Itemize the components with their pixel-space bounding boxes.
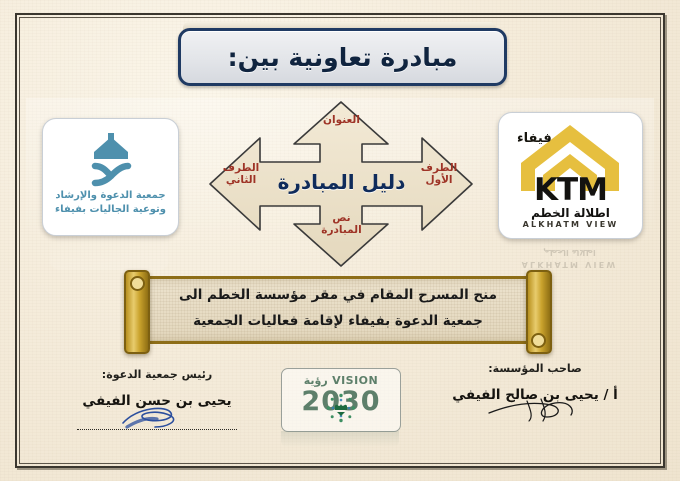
ktm-english-name: ALKHATM VIEW bbox=[499, 220, 642, 229]
statement-scroll: منح المسرح المقام في مقر مؤسسة الخطم الى… bbox=[124, 272, 552, 348]
dawah-society-name: جمعية الدعوة والإرشاد وتوعية الجاليات بف… bbox=[47, 189, 174, 216]
ktm-arabic-name: اطلالة الخطم bbox=[499, 206, 642, 220]
ktm-logo-card: فيفاء KTM اطلالة الخطم ALKHATM VIEW bbox=[498, 112, 643, 239]
title-plate: مبادرة تعاونية بين: bbox=[178, 28, 507, 86]
handwritten-signature-icon bbox=[97, 403, 217, 429]
diagram-label-bottom-line-2: المبادرة bbox=[284, 224, 399, 236]
signature-role-left: رئيس جمعية الدعوة: bbox=[52, 368, 262, 381]
ktm-wordmark: KTM bbox=[499, 175, 642, 206]
statement-text: منح المسرح المقام في مقر مؤسسة الخطم الى… bbox=[154, 282, 522, 335]
statement-line-1: منح المسرح المقام في مقر مؤسسة الخطم الى bbox=[154, 282, 522, 308]
dawah-emblem-icon bbox=[43, 131, 178, 189]
diagram-label-top: العنوان bbox=[284, 114, 399, 126]
diagram-center-label: دليل المبادرة bbox=[254, 170, 429, 194]
diagram-label-bottom-line-1: نص bbox=[284, 212, 399, 224]
handwritten-signature-icon bbox=[475, 397, 595, 423]
scroll-roll-right bbox=[526, 270, 552, 354]
ktm-faifa-label: فيفاء bbox=[517, 131, 552, 146]
scroll-curl-top-icon bbox=[130, 276, 145, 291]
signature-role-right: صاحب المؤسسة: bbox=[430, 362, 640, 375]
signature-block-right: صاحب المؤسسة: أ / يحيى بن صالح الفيفي bbox=[430, 362, 640, 423]
certificate-page: مبادرة تعاونية بين: جمعية الدعوة والإرشا… bbox=[0, 0, 680, 481]
dawah-name-line-2: وتوعية الجاليات بفيفاء bbox=[47, 203, 174, 217]
initiative-guide-diagram: العنوان نص المبادرة الطرف الثاني الطرف ا… bbox=[206, 100, 476, 268]
dawah-society-logo-card: جمعية الدعوة والإرشاد وتوعية الجاليات بف… bbox=[42, 118, 179, 236]
signature-line-right bbox=[430, 409, 640, 423]
scroll-roll-left bbox=[124, 270, 150, 354]
signature-line-left bbox=[77, 415, 237, 430]
scroll-curl-bottom-icon bbox=[531, 333, 546, 348]
statement-line-2: جمعية الدعوة بفيفاء لإقامة فعاليات الجمع… bbox=[154, 308, 522, 334]
diagram-label-bottom: نص المبادرة bbox=[284, 212, 399, 236]
saudi-emblem-icon bbox=[326, 393, 356, 423]
dawah-name-line-1: جمعية الدعوة والإرشاد bbox=[47, 189, 174, 203]
signature-block-left: رئيس جمعية الدعوة: يحيى بن حسن الفيفي bbox=[52, 368, 262, 430]
page-title: مبادرة تعاونية بين: bbox=[228, 43, 458, 72]
vision-2030-logo: VISION رؤية 2030 bbox=[281, 368, 401, 432]
